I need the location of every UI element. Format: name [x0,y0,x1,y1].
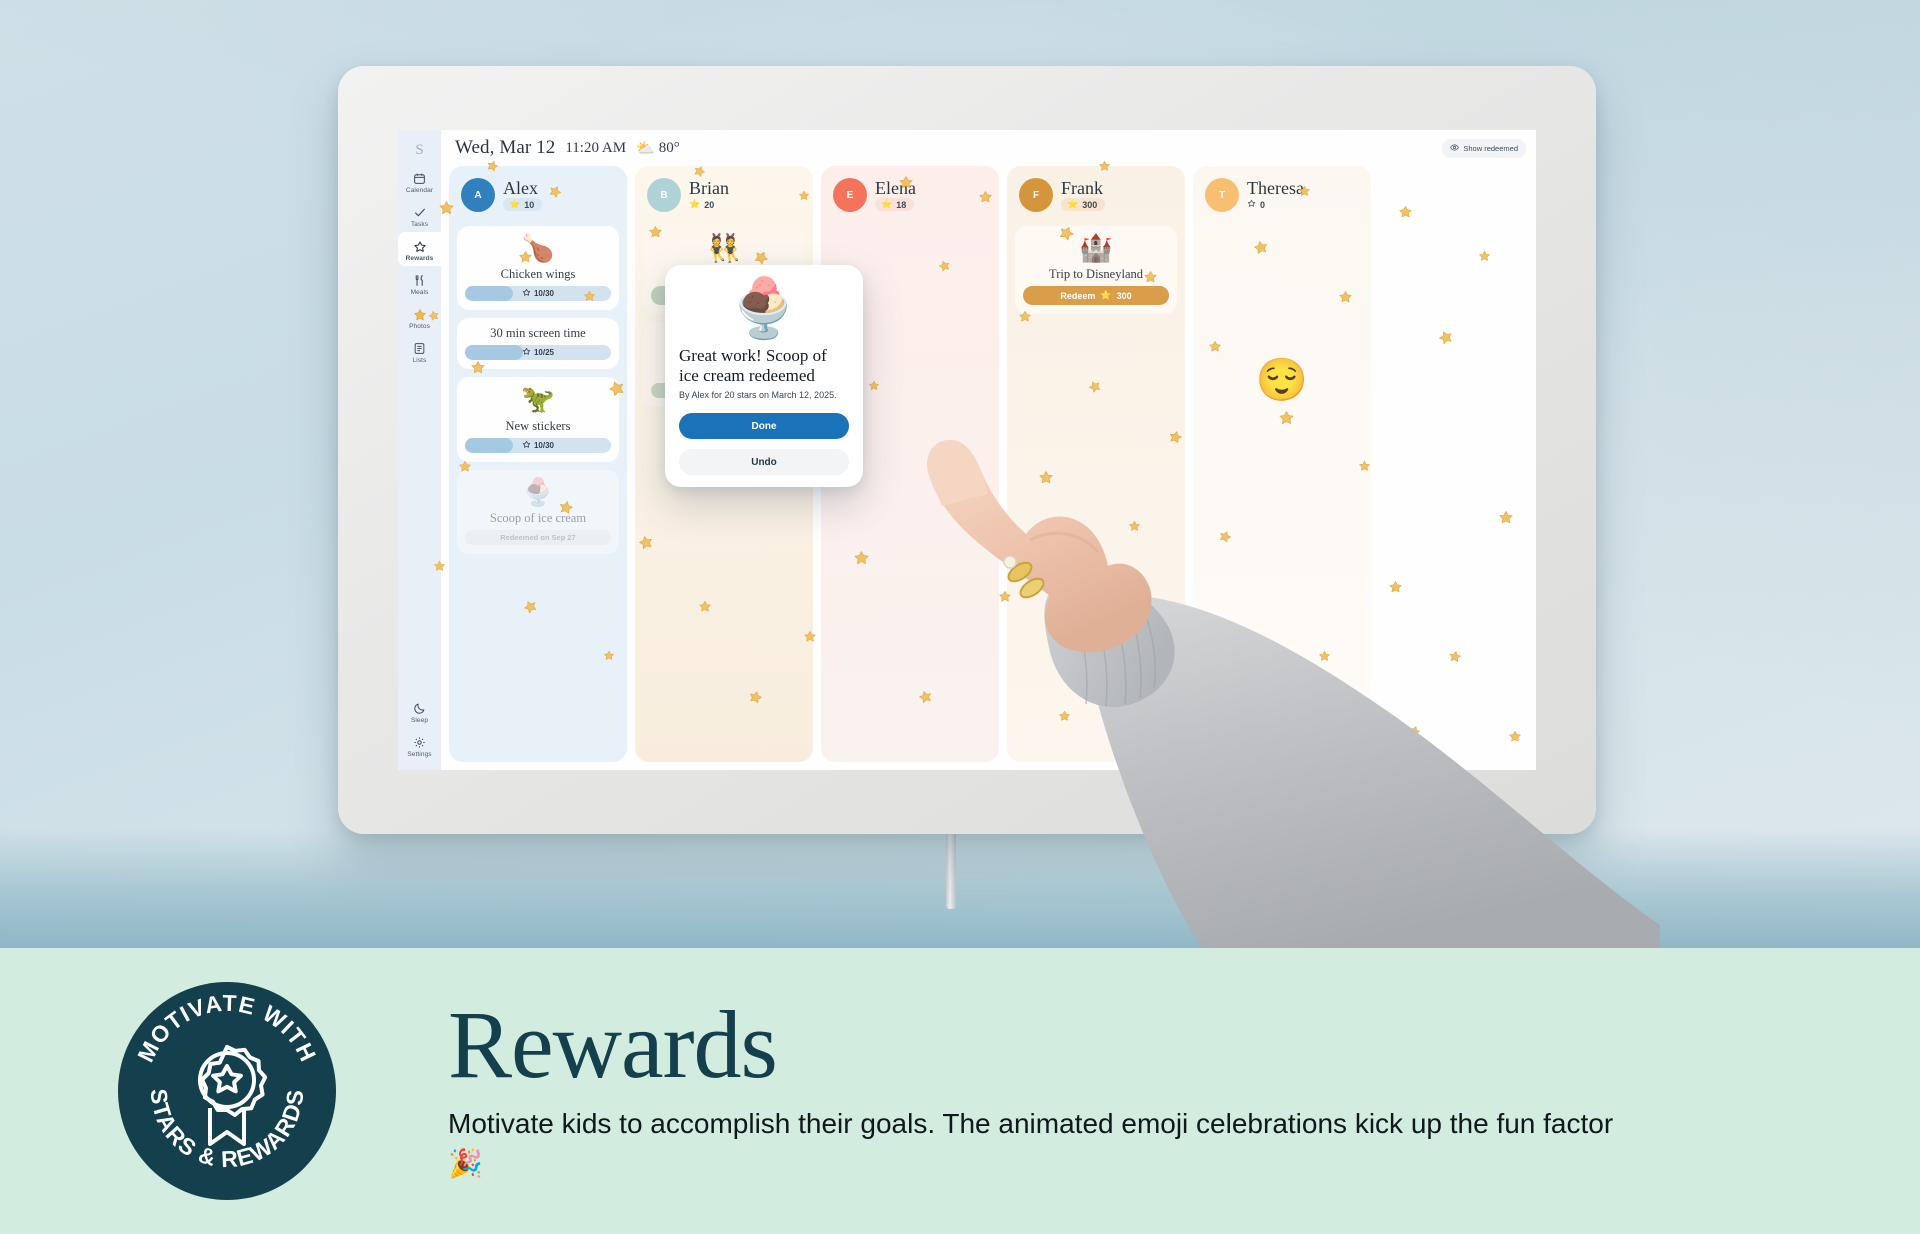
motivate-badge: MOTIVATE WITH STARS & REWARDS [118,982,336,1200]
wall-lower-band [0,828,1920,948]
banner-text: Rewards Motivate kids to accomplish thei… [448,998,1628,1184]
display-screen: S Calendar Tasks [398,130,1536,770]
banner-subtitle: Motivate kids to accomplish their goals.… [448,1104,1628,1184]
monitor-stand [946,825,956,909]
modal-subtitle: By Alex for 20 stars on March 12, 2025. [679,390,849,400]
done-button[interactable]: Done [679,413,849,439]
modal-title: Great work! Scoop of ice cream redeemed [679,346,849,385]
modal-scrim [398,130,1536,770]
reward-redeemed-modal: 🍨 Great work! Scoop of ice cream redeeme… [665,265,863,487]
ice-cream-emoji: 🍨 [728,279,800,340]
product-photo-scene: S Calendar Tasks [0,0,1920,948]
undo-button[interactable]: Undo [679,449,849,475]
feature-banner: MOTIVATE WITH STARS & REWARDS Rewards Mo… [0,948,1920,1234]
banner-title: Rewards [448,998,1628,1092]
